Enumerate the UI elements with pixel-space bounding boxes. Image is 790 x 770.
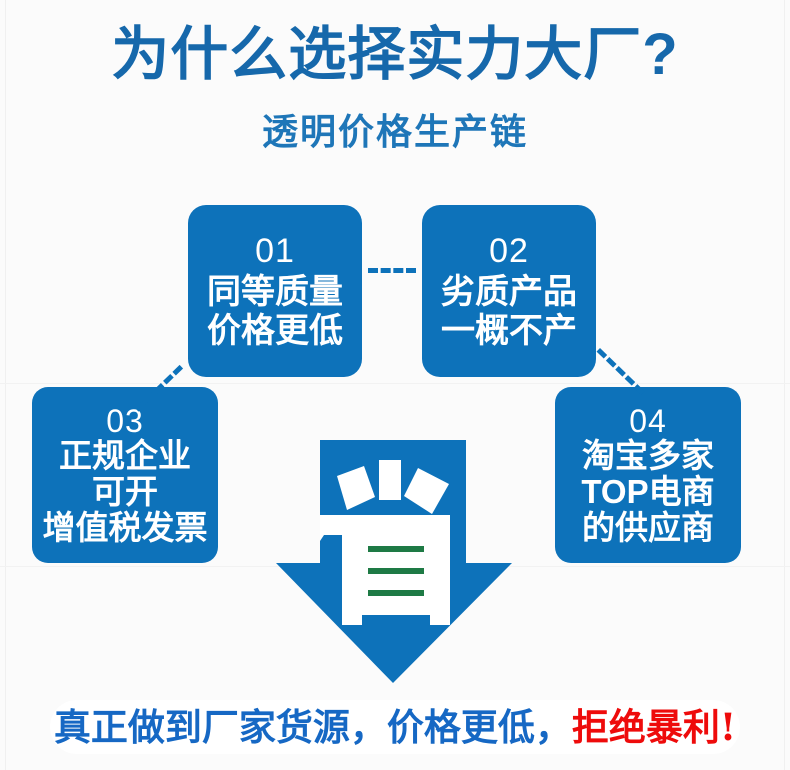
promo-poster: 为什么选择实力大厂? 透明价格生产链 01 同等质量 价格更低 02 劣质产品 … [0,0,790,770]
card-text-line: 淘宝多家 [581,438,714,474]
card-text-line: 一概不产 [441,312,577,351]
card-text-line: 价格更低 [207,312,343,351]
card-number-04: 04 [629,404,667,438]
card-number-02: 02 [489,231,529,271]
card-text-line: 劣质产品 [441,273,577,312]
down-arrow-icon [276,440,512,683]
feature-card-01[interactable]: 01 同等质量 价格更低 [188,205,362,377]
feature-card-02[interactable]: 02 劣质产品 一概不产 [422,205,596,377]
card-text-line: TOP电商 [581,474,714,510]
card-text-04: 淘宝多家 TOP电商 的供应商 [581,438,714,546]
card-text-03: 正规企业 可开 增值税发票 [43,438,208,546]
banner-text-blue: 真正做到厂家货源，价格更低， [54,704,572,750]
card-text-line: 增值税发票 [43,510,208,546]
page-title: 为什么选择实力大厂? [0,18,790,92]
bottom-banner: 真正做到厂家货源，价格更低， 拒绝暴利! [50,700,740,754]
banner-text-red: 拒绝暴利! [572,704,736,750]
card-text-line: 的供应商 [581,510,714,546]
card-text-01: 同等质量 价格更低 [207,273,343,351]
card-text-line: 同等质量 [207,273,343,312]
page-subtitle: 透明价格生产链 [0,108,790,156]
dashed-connector-01-02 [368,268,416,273]
card-number-01: 01 [255,231,295,271]
card-text-line: 正规企业 [43,438,208,474]
feature-card-04[interactable]: 04 淘宝多家 TOP电商 的供应商 [555,387,741,563]
card-text-02: 劣质产品 一概不产 [441,273,577,351]
background-band-upper [0,383,790,384]
card-text-line: 可开 [43,474,208,510]
feature-card-03[interactable]: 03 正规企业 可开 增值税发票 [32,387,218,563]
